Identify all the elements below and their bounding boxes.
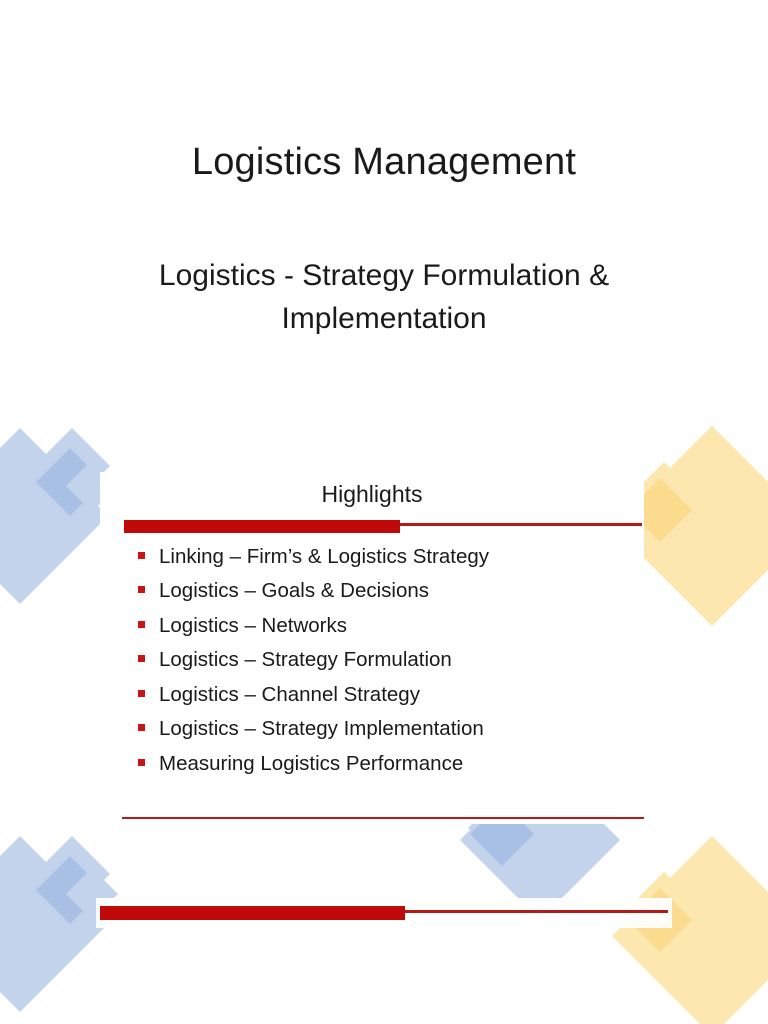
- highlights-list: Linking – Firm’s & Logistics Strategy Lo…: [100, 531, 644, 775]
- list-item: Logistics – Strategy Formulation: [138, 650, 644, 671]
- list-item-label: Logistics – Networks: [159, 616, 347, 637]
- slide-canvas: Logistics Management Logistics - Strateg…: [0, 0, 768, 1024]
- highlights-divider: [100, 519, 644, 531]
- title-block: Logistics Management Logistics - Strateg…: [0, 140, 768, 341]
- blue-diamond-large-bottom-left: [0, 836, 108, 1012]
- divider-thick-bar: [124, 520, 400, 533]
- square-bullet-icon: [138, 655, 145, 662]
- page-subtitle: Logistics - Strategy Formulation & Imple…: [0, 254, 768, 341]
- list-item: Linking – Firm’s & Logistics Strategy: [138, 547, 644, 568]
- square-bullet-icon: [138, 586, 145, 593]
- list-item-label: Linking – Firm’s & Logistics Strategy: [159, 547, 489, 568]
- list-item: Logistics – Goals & Decisions: [138, 581, 644, 602]
- list-item-label: Logistics – Channel Strategy: [159, 685, 420, 706]
- decor-bottom-right-yellow-group: [612, 836, 768, 1024]
- square-bullet-icon: [138, 552, 145, 559]
- list-item: Measuring Logistics Performance: [138, 754, 644, 775]
- list-item-label: Logistics – Goals & Decisions: [159, 581, 429, 602]
- list-item: Logistics – Channel Strategy: [138, 685, 644, 706]
- footer-thick-bar: [100, 906, 405, 920]
- blue-diamond-large-top-left: [0, 428, 108, 604]
- square-bullet-icon: [138, 759, 145, 766]
- highlights-heading: Highlights: [100, 472, 644, 509]
- blue-diamond-small-top-left: [36, 448, 104, 516]
- square-bullet-icon: [138, 690, 145, 697]
- footer-bar: [100, 905, 668, 921]
- list-item: Logistics – Networks: [138, 616, 644, 637]
- list-item-label: Logistics – Strategy Implementation: [159, 719, 484, 740]
- panel-bottom-rule: [122, 817, 644, 819]
- list-item: Logistics – Strategy Implementation: [138, 719, 644, 740]
- square-bullet-icon: [138, 724, 145, 731]
- yellow-diamond-large-bottom-right: [612, 836, 768, 1024]
- blue-diamond-small-bottom-left: [36, 856, 104, 924]
- square-bullet-icon: [138, 621, 145, 628]
- blue-diamond-medium-bottom-left: [34, 836, 110, 912]
- decor-bottom-left-blue-group: [0, 836, 118, 1012]
- list-item-label: Logistics – Strategy Formulation: [159, 650, 452, 671]
- highlights-panel: Highlights Linking – Firm’s & Logistics …: [100, 472, 644, 824]
- blue-diamond-medium-top-left: [34, 428, 110, 504]
- list-item-label: Measuring Logistics Performance: [159, 754, 463, 775]
- page-title: Logistics Management: [0, 140, 768, 186]
